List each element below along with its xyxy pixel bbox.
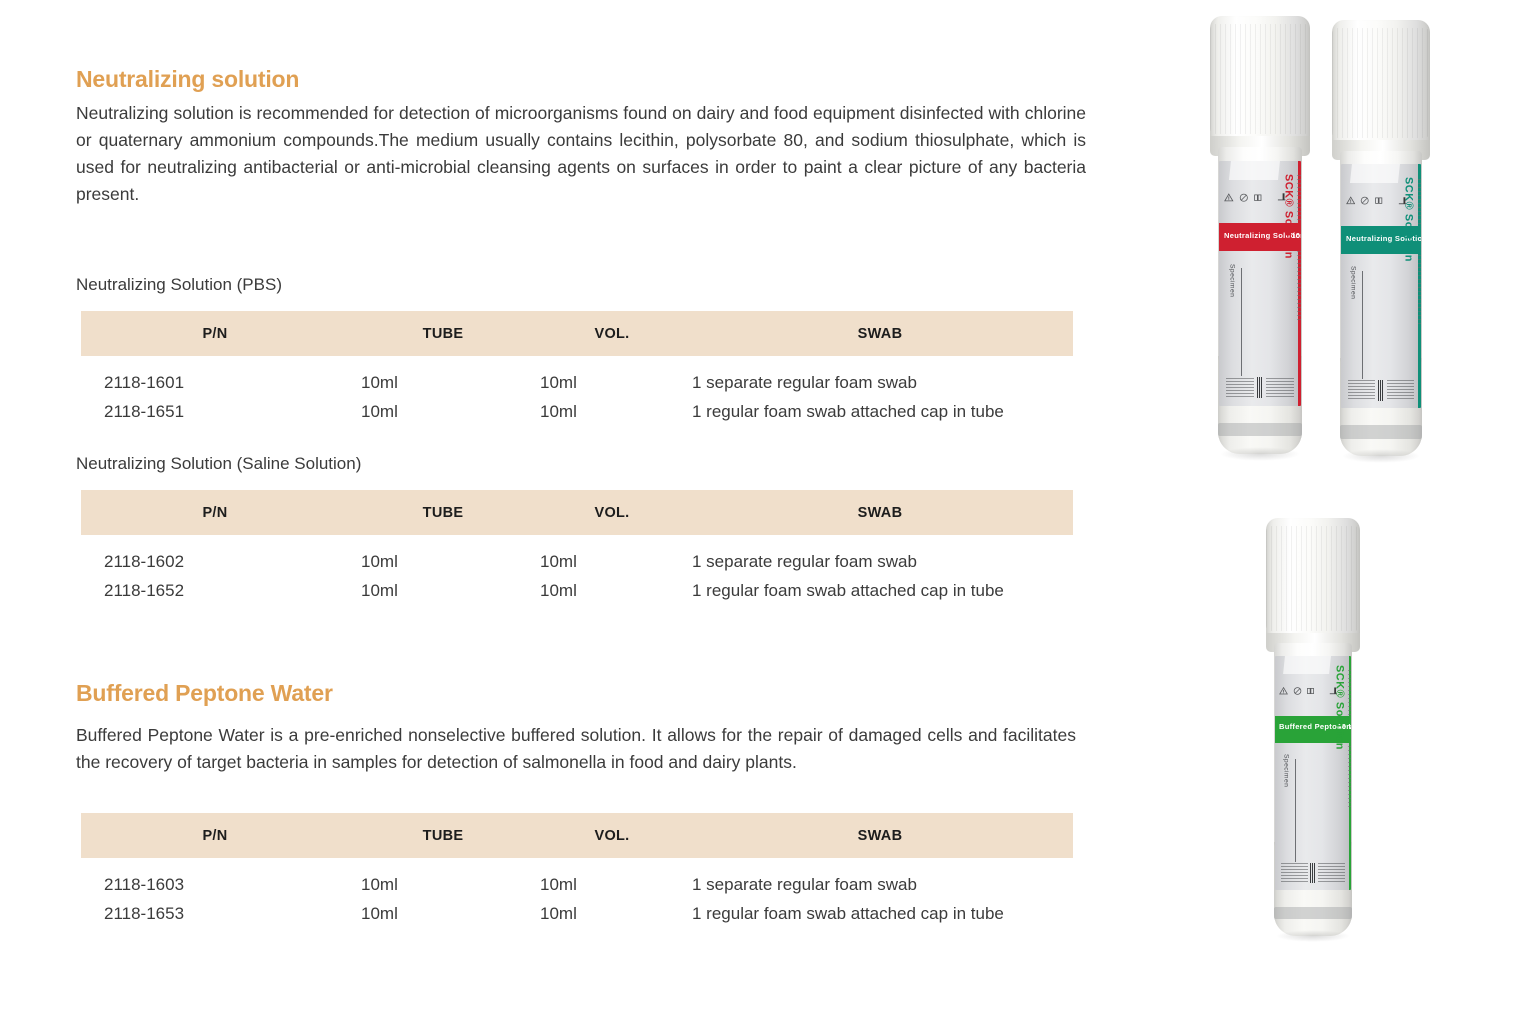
table-neutralizing-pbs: P/N TUBE VOL. SWAB 2118-1601 10ml 10ml 1… (81, 311, 1073, 426)
tube-shadow (1276, 930, 1350, 943)
brand-name: SCK® Solution (1334, 665, 1347, 750)
column-header-pn: P/N (81, 311, 349, 356)
cell-swab: 1 regular foam swab attached cap in tube (687, 576, 1073, 605)
page-title: Neutralizing solution (76, 68, 299, 91)
table-pbs-wrapper: P/N TUBE VOL. SWAB 2118-1601 10ml 10ml 1… (81, 311, 1073, 426)
tube-label: Neutralizing Solution (PBS) 10ml Specime… (1219, 161, 1300, 406)
specimen-write-line (1362, 271, 1364, 378)
tube-cap (1210, 16, 1310, 147)
cell-swab: 1 regular foam swab attached cap in tube (687, 397, 1073, 426)
column-header-pn: P/N (81, 490, 349, 535)
column-header-vol: VOL. (537, 490, 687, 535)
column-header-tube: TUBE (349, 813, 537, 858)
column-header-vol: VOL. (537, 813, 687, 858)
manufacturer-address (1266, 378, 1294, 399)
cell-swab: 1 separate regular foam swab (687, 356, 1073, 397)
tube-cap (1332, 20, 1430, 151)
neutralizing-solution-description: Neutralizing solution is recommended for… (76, 100, 1086, 208)
column-header-pn: P/N (81, 813, 349, 858)
do-not-reuse-icon (1293, 676, 1302, 706)
table-row: 2118-1652 10ml 10ml 1 regular foam swab … (81, 576, 1073, 605)
column-header-swab: SWAB (687, 813, 1073, 858)
caution-icon (1279, 676, 1288, 706)
do-not-reuse-icon (1360, 185, 1369, 216)
table-row: 2118-1602 10ml 10ml 1 separate regular f… (81, 535, 1073, 576)
column-header-tube: TUBE (349, 490, 537, 535)
cell-tube: 10ml (349, 356, 537, 397)
cell-swab: 1 separate regular foam swab (687, 535, 1073, 576)
barcode (1257, 377, 1263, 398)
consult-instructions-icon (1306, 676, 1315, 706)
cell-pn: 2118-1653 (81, 899, 349, 928)
cell-swab: 1 regular foam swab attached cap in tube (687, 899, 1073, 928)
cell-vol: 10ml (537, 576, 687, 605)
caution-icon (1224, 182, 1234, 213)
consult-instructions-icon (1253, 182, 1263, 213)
cell-vol: 10ml (537, 858, 687, 899)
manufacturer-address (1387, 380, 1415, 401)
tube-bottom-ring (1274, 907, 1352, 920)
tube-label: Buffered Peptone Water 10ml Specimen SCK… (1275, 656, 1351, 890)
table-row: 2118-1653 10ml 10ml 1 regular foam swab … (81, 899, 1073, 928)
tube-shadow (1220, 447, 1299, 460)
cell-tube: 10ml (349, 899, 537, 928)
manufacturer-text (1281, 863, 1308, 883)
cell-tube: 10ml (349, 858, 537, 899)
cell-pn: 2118-1603 (81, 858, 349, 899)
table-bpw-wrapper: P/N TUBE VOL. SWAB 2118-1603 10ml 10ml 1… (81, 813, 1073, 928)
table-header-row: P/N TUBE VOL. SWAB (81, 490, 1073, 535)
table-row: 2118-1601 10ml 10ml 1 separate regular f… (81, 356, 1073, 397)
table-row: 2118-1651 10ml 10ml 1 regular foam swab … (81, 397, 1073, 426)
table-header-row: P/N TUBE VOL. SWAB (81, 813, 1073, 858)
label-footer (1281, 855, 1345, 883)
cell-swab: 1 separate regular foam swab (687, 858, 1073, 899)
buffered-peptone-water-description: Buffered Peptone Water is a pre-enriched… (76, 722, 1076, 776)
cell-pn: 2118-1652 (81, 576, 349, 605)
tube-shadow (1342, 449, 1420, 462)
table-neutralizing-saline: P/N TUBE VOL. SWAB 2118-1602 10ml 10ml 1… (81, 490, 1073, 605)
cell-pn: 2118-1601 (81, 356, 349, 397)
table-saline-wrapper: P/N TUBE VOL. SWAB 2118-1602 10ml 10ml 1… (81, 490, 1073, 605)
column-header-swab: SWAB (687, 490, 1073, 535)
column-header-swab: SWAB (687, 311, 1073, 356)
product-photo-buffered-peptone-water: Buffered Peptone Water 10ml Specimen SCK… (1264, 518, 1362, 936)
cell-tube: 10ml (349, 535, 537, 576)
column-header-vol: VOL. (537, 311, 687, 356)
table-header-row: P/N TUBE VOL. SWAB (81, 311, 1073, 356)
product-photo-neutralizing-saline: Neutralizing Solution (Saline Solution) … (1330, 20, 1432, 456)
tube-label: Neutralizing Solution (Saline Solution) … (1341, 164, 1421, 408)
label-footer (1348, 371, 1415, 400)
consult-instructions-icon (1374, 185, 1383, 216)
brand-name: SCK® Solution (1403, 177, 1416, 262)
cell-vol: 10ml (537, 899, 687, 928)
caution-icon (1346, 185, 1355, 216)
cell-vol: 10ml (537, 535, 687, 576)
tube-bottom-ring (1340, 425, 1422, 438)
table-caption-pbs: Neutralizing Solution (PBS) (76, 274, 282, 296)
tube-cap (1266, 518, 1360, 643)
section-title-buffered-peptone-water: Buffered Peptone Water (76, 682, 333, 705)
specimen-tube: Neutralizing Solution (Saline Solution) … (1330, 20, 1432, 456)
manufacturer-text (1226, 378, 1254, 399)
do-not-reuse-icon (1239, 182, 1249, 213)
specimen-write-line (1241, 268, 1243, 376)
cell-tube: 10ml (349, 397, 537, 426)
barcode (1378, 380, 1384, 401)
manufacturer-address (1318, 863, 1345, 883)
brand-name: SCK® Solution (1283, 174, 1296, 259)
cell-vol: 10ml (537, 397, 687, 426)
barcode (1310, 863, 1316, 883)
cell-tube: 10ml (349, 576, 537, 605)
specimen-tube: Buffered Peptone Water 10ml Specimen SCK… (1264, 518, 1362, 936)
tube-bottom-ring (1218, 423, 1301, 436)
cell-pn: 2118-1651 (81, 397, 349, 426)
cell-vol: 10ml (537, 356, 687, 397)
specimen-tube: Neutralizing Solution (PBS) 10ml Specime… (1208, 16, 1312, 454)
table-row: 2118-1603 10ml 10ml 1 separate regular f… (81, 858, 1073, 899)
cell-pn: 2118-1602 (81, 535, 349, 576)
table-caption-saline: Neutralizing Solution (Saline Solution) (76, 453, 361, 475)
product-photo-neutralizing-pbs: Neutralizing Solution (PBS) 10ml Specime… (1208, 16, 1312, 454)
specimen-label: Specimen (1349, 266, 1357, 299)
column-header-tube: TUBE (349, 311, 537, 356)
specimen-write-line (1295, 759, 1297, 862)
table-buffered-peptone-water: P/N TUBE VOL. SWAB 2118-1603 10ml 10ml 1… (81, 813, 1073, 928)
specimen-label: Specimen (1282, 754, 1290, 787)
label-footer (1226, 369, 1294, 398)
specimen-label: Specimen (1228, 264, 1236, 297)
manufacturer-text (1348, 380, 1376, 401)
